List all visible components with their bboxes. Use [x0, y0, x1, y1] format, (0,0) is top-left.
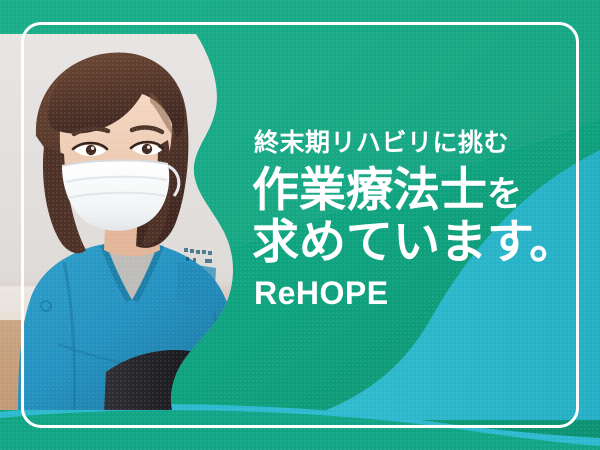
headline-particle: を: [487, 175, 522, 214]
copy-block: 終末期リハビリに挑む 作業療法士を 求めています。 ReHOPE: [252, 128, 582, 309]
headline-line1: 作業療法士: [252, 163, 487, 216]
headline: 作業療法士を 求めています。: [252, 165, 582, 267]
recruitment-banner: 終末期リハビリに挑む 作業療法士を 求めています。 ReHOPE: [0, 0, 600, 450]
headline-line2: 求めています。: [252, 217, 582, 267]
brand-name: ReHOPE: [254, 277, 582, 309]
subline: 終末期リハビリに挑む: [254, 128, 582, 159]
